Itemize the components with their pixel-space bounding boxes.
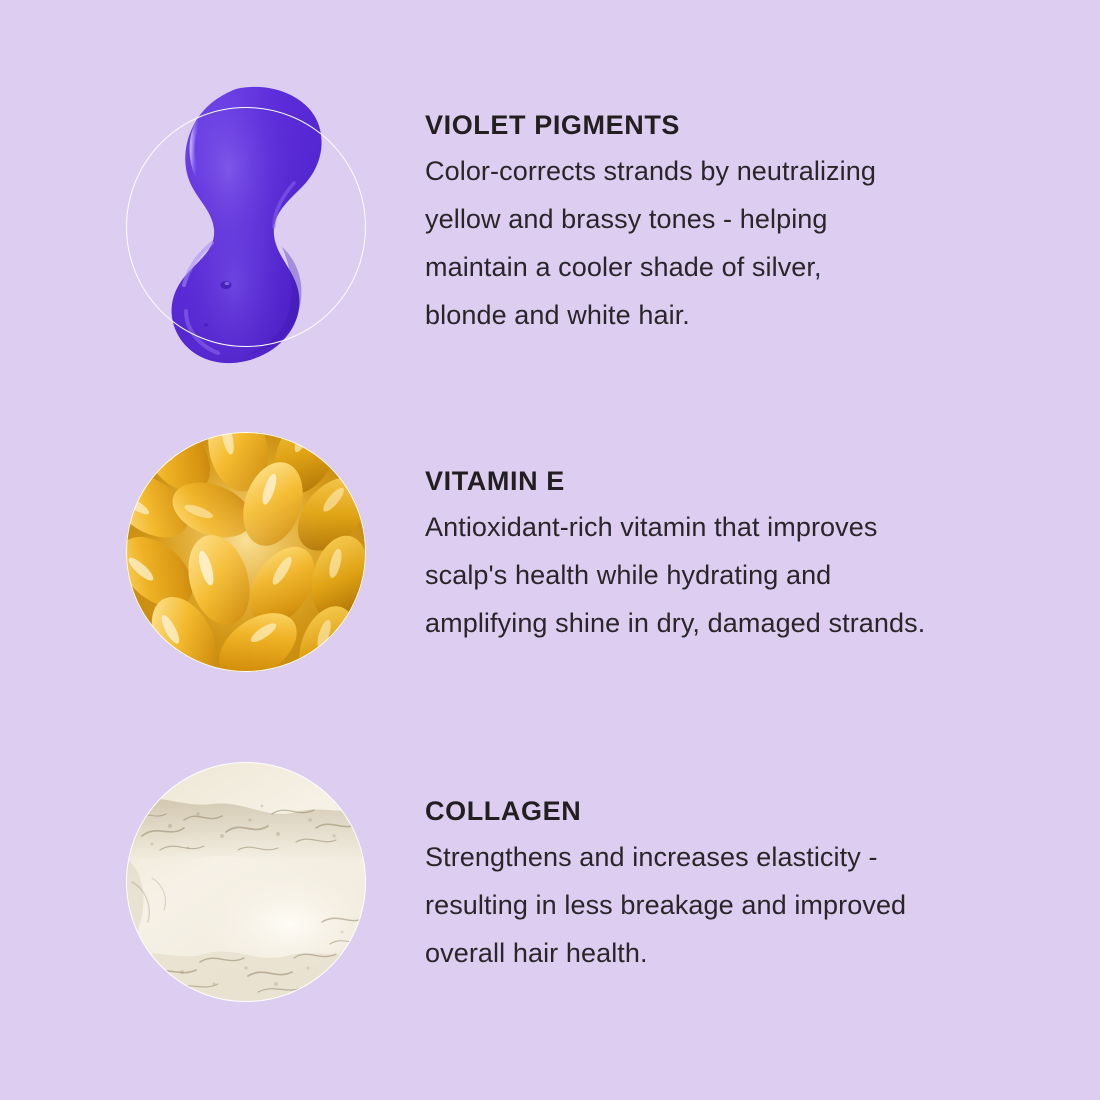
body-line: maintain a cooler shade of silver,: [425, 243, 990, 291]
ingredient-media-violet-pigments: [126, 107, 366, 347]
ingredient-heading-collagen: COLLAGEN: [425, 798, 990, 825]
body-line: overall hair health.: [425, 929, 990, 977]
body-line: yellow and brassy tones - helping: [425, 195, 990, 243]
body-line: amplifying shine in dry, damaged strands…: [425, 599, 990, 647]
body-line: scalp's health while hydrating and: [425, 551, 990, 599]
ingredient-text-vitamin-e: VITAMIN E Antioxidant-rich vitamin that …: [425, 468, 1100, 647]
ingredient-row-violet-pigments: VIOLET PIGMENTS Color-corrects strands b…: [0, 107, 1100, 347]
body-line: resulting in less breakage and improved: [425, 881, 990, 929]
collagen-powder-photo: [126, 762, 366, 1002]
ingredient-row-vitamin-e: VITAMIN E Antioxidant-rich vitamin that …: [0, 432, 1100, 672]
capsule-bed-glow-overlay: [126, 432, 366, 672]
ingredient-body-collagen: Strengthens and increases elasticity - r…: [425, 833, 990, 977]
vitamin-e-softgel-capsules-photo: [126, 432, 366, 672]
body-line: Antioxidant-rich vitamin that improves: [425, 503, 990, 551]
vitamin-e-capsules-svg: [126, 432, 366, 672]
violet-circle-bg-svg: [126, 107, 366, 347]
ingredient-text-violet-pigments: VIOLET PIGMENTS Color-corrects strands b…: [425, 112, 1100, 339]
ingredient-media-vitamin-e: [126, 432, 366, 672]
ingredient-heading-vitamin-e: VITAMIN E: [425, 468, 990, 495]
ingredient-body-vitamin-e: Antioxidant-rich vitamin that improves s…: [425, 503, 990, 647]
violet-pigment-circle-backdrop: [126, 107, 366, 347]
ingredient-body-violet-pigments: Color-corrects strands by neutralizing y…: [425, 147, 990, 339]
body-line: blonde and white hair.: [425, 291, 990, 339]
body-line: Color-corrects strands by neutralizing: [425, 147, 990, 195]
ingredient-row-collagen: COLLAGEN Strengthens and increases elast…: [0, 762, 1100, 1002]
ingredient-heading-violet-pigments: VIOLET PIGMENTS: [425, 112, 990, 139]
ingredient-media-collagen: [126, 762, 366, 1002]
body-line: Strengthens and increases elasticity -: [425, 833, 990, 881]
powder-lower-band: [126, 952, 366, 1002]
ingredients-panel: VIOLET PIGMENTS Color-corrects strands b…: [0, 0, 1100, 1100]
ingredient-text-collagen: COLLAGEN Strengthens and increases elast…: [425, 798, 1100, 977]
collagen-powder-svg: [126, 762, 366, 1002]
